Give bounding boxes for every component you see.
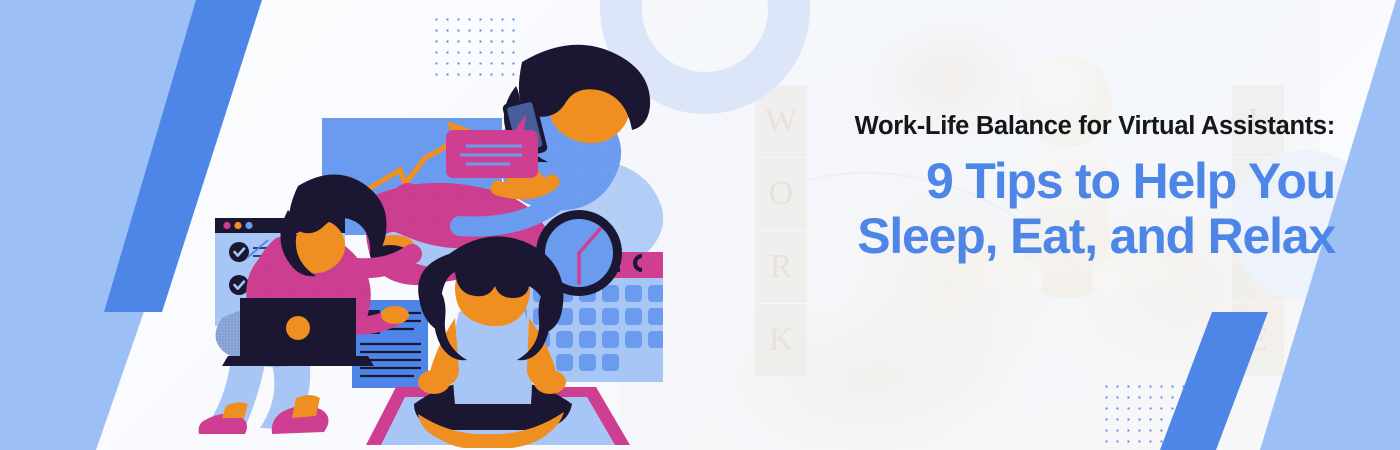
laptop	[222, 298, 374, 366]
kicker-text: Work-Life Balance for Virtual Assistants…	[690, 112, 1335, 141]
work-life-balance-illustration	[0, 0, 700, 450]
headline-text-block: Work-Life Balance for Virtual Assistants…	[690, 112, 1335, 263]
headline-line-1: 9 Tips to Help You	[690, 154, 1335, 209]
dot-grid-bottom-right	[1101, 381, 1191, 447]
headline-line-2: Sleep, Eat, and Relax	[690, 209, 1335, 264]
headline-text: 9 Tips to Help You Sleep, Eat, and Relax	[690, 154, 1335, 263]
blog-header-banner: W O R K L I F E	[0, 0, 1400, 450]
